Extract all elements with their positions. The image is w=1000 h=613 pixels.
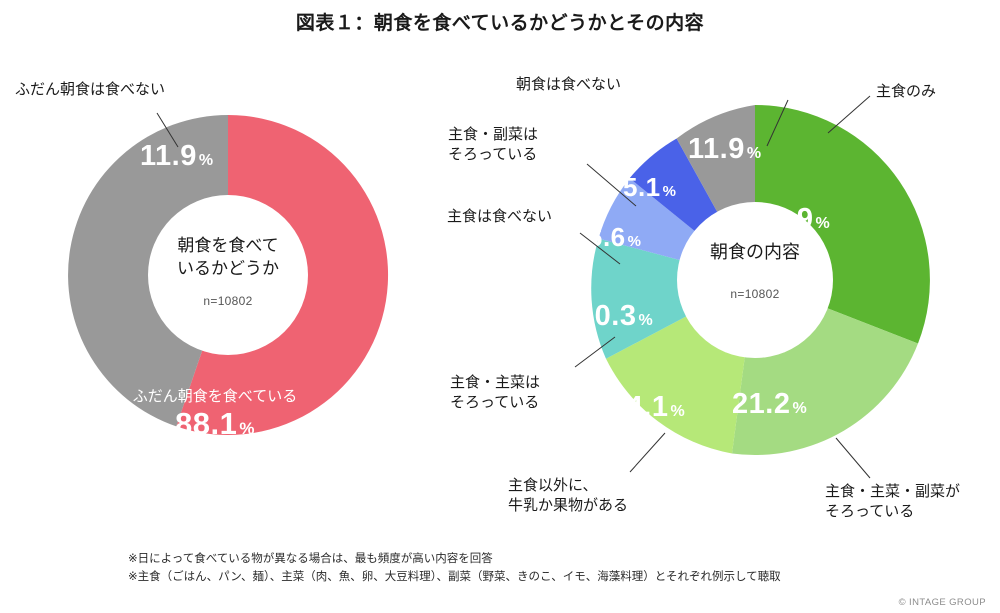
value-label-staple-and-main: 10.3% [578, 302, 653, 331]
callout-staple-only-line1: 主食のみ [876, 82, 936, 102]
callout-staple-and-side-line1: 主食・副菜は [448, 125, 538, 145]
value-label-no-breakfast: 11.9% [140, 142, 213, 171]
donut-left-center-text: 朝食を食べて いるかどうか n=10802 [138, 235, 318, 309]
donut-right-center-text: 朝食の内容 n=10802 [655, 240, 855, 302]
footnote-2: ※主食（ごはん、パン、麺）、主菜（肉、魚、卵、大豆料理）、副菜（野菜、きのこ、イ… [128, 569, 948, 587]
chart-breakfast-contents: 朝食の内容 n=10802 30.9% 21.2% 14.1% 10.3% 6.… [540, 90, 960, 510]
callout-no-staple: 主食は食べない [447, 207, 552, 227]
callout-staple-and-main-line1: 主食・主菜は [450, 373, 540, 393]
chart-breakfast-habit: 朝食を食べて いるかどうか n=10802 11.9% ふだん朝食は食べない ふ… [30, 95, 430, 495]
sample-size-left: n=10802 [138, 293, 318, 309]
callout-staple-main-side-line2: そろっている [825, 502, 960, 522]
callout-staple-and-side-line2: そろっている [448, 145, 538, 165]
callout-milk-or-fruit: 主食以外に、 牛乳か果物がある [508, 476, 628, 516]
inner-label-caption: ふだん朝食を食べている [90, 385, 340, 406]
callout-staple-only: 主食のみ [876, 82, 936, 102]
footnotes: ※日によって食べている物が異なる場合は、最も頻度が高い内容を回答 ※主食（ごはん… [128, 551, 948, 587]
callout-staple-main-side-line1: 主食・主菜・副菜が [825, 482, 960, 502]
sample-size-right: n=10802 [655, 286, 855, 302]
value-label-milk-or-fruit: 14.1% [610, 393, 685, 422]
value-label-staple-only: 30.9% [755, 205, 830, 234]
value-label-no-staple: 6.6% [588, 224, 641, 250]
figure-canvas: 図表１：朝食を食べているかどうかとその内容 朝食を食べて いるかどうか n=10… [0, 0, 1000, 613]
value-label-skips-breakfast: 11.9% [688, 135, 761, 164]
hub-title-line2: いるかどうか [138, 258, 318, 281]
callout-no-staple-line1: 主食は食べない [447, 207, 552, 227]
value-label-staple-main-side: 21.2% [732, 390, 807, 419]
value-label-staple-and-side: 5.1% [623, 174, 676, 200]
callout-staple-main-side: 主食・主菜・副菜が そろっている [825, 482, 960, 522]
callout-staple-and-main: 主食・主菜は そろっている [450, 373, 540, 413]
hub-title-line1: 朝食を食べて [138, 235, 318, 258]
hub-title: 朝食の内容 [655, 240, 855, 264]
copyright-credit: © INTAGE GROUP [899, 597, 986, 608]
callout-skips-breakfast-line1: 朝食は食べない [516, 75, 621, 95]
callout-staple-and-side: 主食・副菜は そろっている [448, 125, 538, 165]
footnote-1: ※日によって食べている物が異なる場合は、最も頻度が高い内容を回答 [128, 551, 948, 569]
inner-label-value: 88.1% [175, 406, 255, 441]
callout-skips-breakfast: 朝食は食べない [516, 75, 621, 95]
callout-milk-or-fruit-line2: 牛乳か果物がある [508, 496, 628, 516]
callout-no-breakfast: ふだん朝食は食べない [15, 80, 165, 100]
inner-label-eats-breakfast: ふだん朝食を食べている 88.1% [90, 385, 340, 442]
callout-milk-or-fruit-line1: 主食以外に、 [508, 476, 628, 496]
page-title: 図表１：朝食を食べているかどうかとその内容 [0, 8, 1000, 35]
callout-staple-and-main-line2: そろっている [450, 393, 540, 413]
